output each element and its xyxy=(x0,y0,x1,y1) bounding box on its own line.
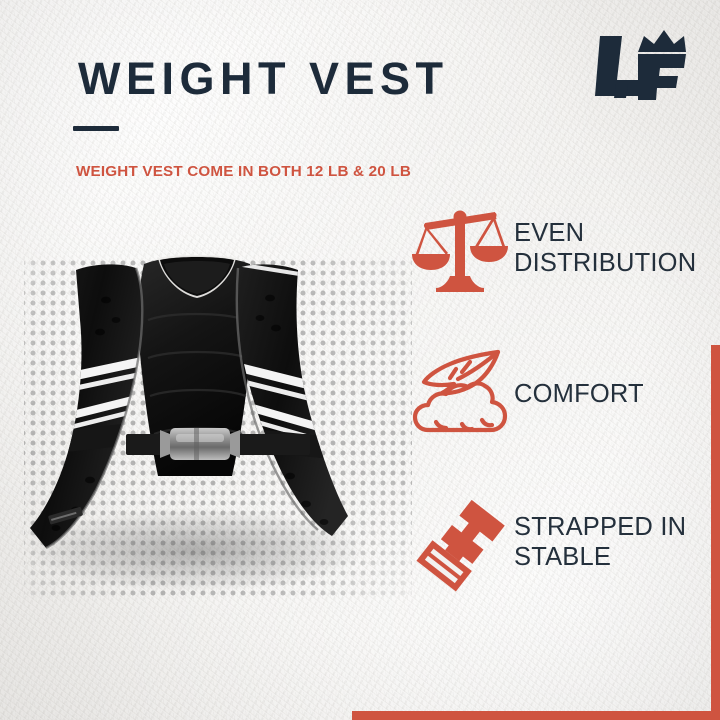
weight-vest-image xyxy=(18,228,418,600)
strap-buckle-icon xyxy=(412,490,508,594)
product-photo-area xyxy=(18,228,418,600)
accent-bar-bottom xyxy=(352,711,720,720)
buckle xyxy=(160,428,240,460)
feature-list: EVEN DISTRIBUTION xyxy=(412,196,708,594)
page-subtitle: WEIGHT VEST COME IN BOTH 12 LB & 20 LB xyxy=(76,163,411,180)
title-divider-dash xyxy=(73,126,119,131)
feature-label: EVEN DISTRIBUTION xyxy=(508,218,696,278)
page-title: WEIGHT VEST xyxy=(78,56,449,101)
accent-bar-right xyxy=(711,345,720,712)
balance-scale-icon xyxy=(412,196,508,300)
lf-monogram-logo xyxy=(586,28,690,106)
feature-item-comfort: COMFORT xyxy=(412,342,708,446)
feature-label: STRAPPED IN STABLE xyxy=(508,512,686,572)
feature-label: COMFORT xyxy=(508,379,644,409)
feather-cloud-icon xyxy=(412,342,508,446)
feature-item-strapped-in-stable: STRAPPED IN STABLE xyxy=(412,490,708,594)
feature-item-even-distribution: EVEN DISTRIBUTION xyxy=(412,196,708,300)
product-poster: WEIGHT VEST WEIGHT VEST COME IN BOTH 12 … xyxy=(0,0,720,720)
